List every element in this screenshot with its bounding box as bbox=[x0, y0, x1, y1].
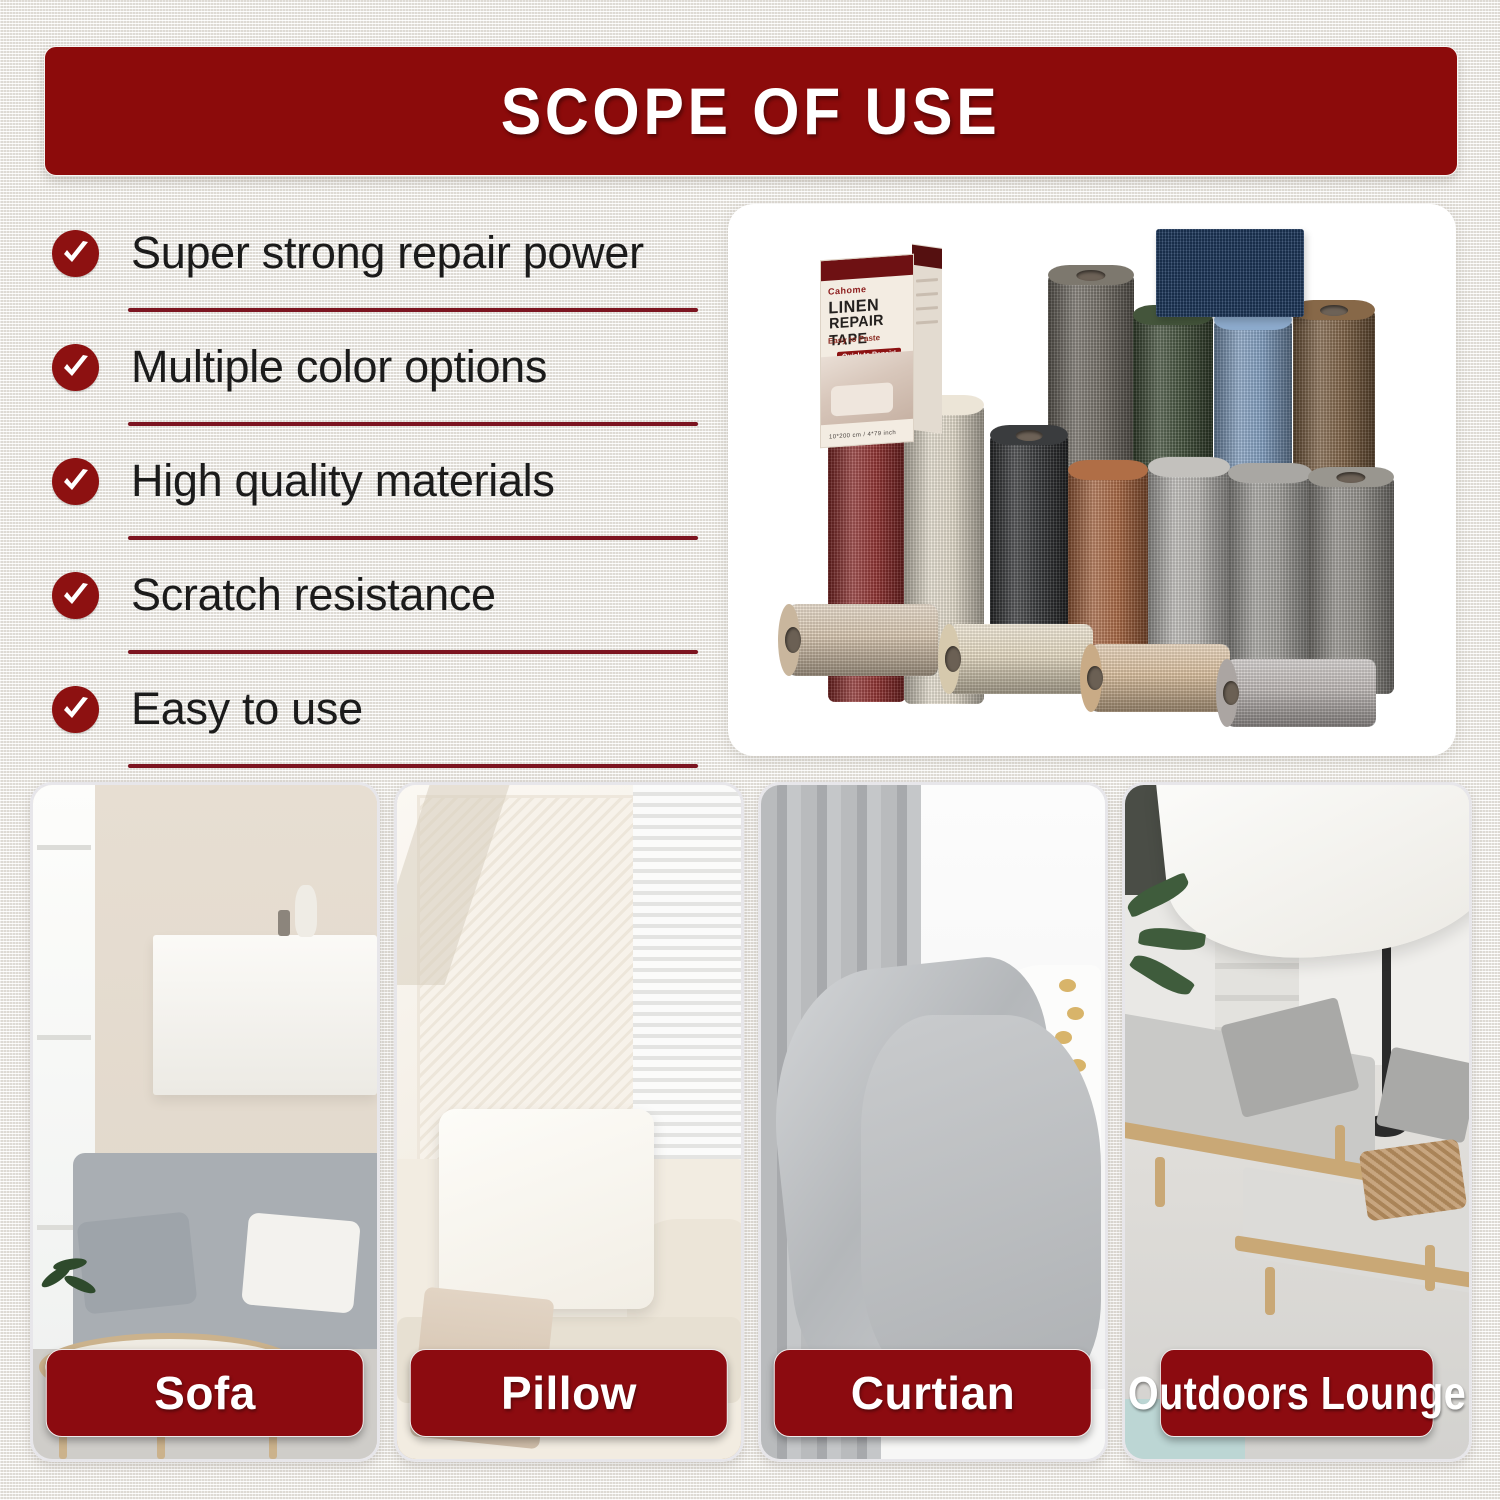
use-case-gallery: Sofa Pillow bbox=[30, 782, 1472, 1462]
check-circle-icon bbox=[52, 230, 99, 277]
use-case-card-curtain[interactable]: Curtian bbox=[758, 782, 1108, 1462]
section-title-banner: SCOPE OF USE bbox=[44, 46, 1458, 176]
tape-swatch-navy bbox=[1156, 229, 1304, 317]
list-item: Multiple color options bbox=[48, 312, 698, 426]
card-label-sofa: Sofa bbox=[46, 1349, 364, 1437]
feature-label: Scratch resistance bbox=[131, 569, 496, 621]
brand-name: Cahome bbox=[828, 284, 867, 297]
feature-label: Easy to use bbox=[131, 683, 363, 735]
check-circle-icon bbox=[52, 344, 99, 391]
tape-roll-greylying bbox=[1226, 659, 1376, 727]
card-label-curtain: Curtian bbox=[774, 1349, 1092, 1437]
box-size-text: 10*200 cm / 4*79 inch bbox=[829, 430, 896, 441]
use-case-card-pillow[interactable]: Pillow bbox=[394, 782, 744, 1462]
feature-list: Super strong repair power Multiple color… bbox=[48, 198, 698, 768]
tape-roll-beige-lying bbox=[788, 604, 938, 676]
tape-roll-ivory-lying bbox=[948, 624, 1093, 694]
product-image-panel: Cahome LINEN REPAIR TAPE Easy to Paste Q… bbox=[728, 204, 1456, 756]
card-label-pillow: Pillow bbox=[410, 1349, 728, 1437]
feature-label: Multiple color options bbox=[131, 341, 547, 393]
check-circle-icon bbox=[52, 572, 99, 619]
box-feature-tabs bbox=[916, 278, 940, 336]
tape-rolls-arrangement: Cahome LINEN REPAIR TAPE Easy to Paste Q… bbox=[728, 204, 1456, 756]
list-item: High quality materials bbox=[48, 426, 698, 540]
tape-roll-tan-lying bbox=[1090, 644, 1230, 712]
list-item: Super strong repair power bbox=[48, 198, 698, 312]
feature-label: Super strong repair power bbox=[131, 227, 644, 279]
check-circle-icon bbox=[52, 458, 99, 505]
product-box: Cahome LINEN REPAIR TAPE Easy to Paste Q… bbox=[820, 252, 942, 451]
check-circle-icon bbox=[52, 686, 99, 733]
feature-label: High quality materials bbox=[131, 455, 555, 507]
feature-divider bbox=[128, 764, 698, 768]
card-label-outdoors-lounge: Outdoors Lounge bbox=[1160, 1349, 1434, 1437]
page-title: SCOPE OF USE bbox=[501, 73, 1001, 149]
list-item: Scratch resistance bbox=[48, 540, 698, 654]
list-item: Easy to use bbox=[48, 654, 698, 768]
use-case-card-sofa[interactable]: Sofa bbox=[30, 782, 380, 1462]
use-case-card-outdoors-lounge[interactable]: Outdoors Lounge bbox=[1122, 782, 1472, 1462]
